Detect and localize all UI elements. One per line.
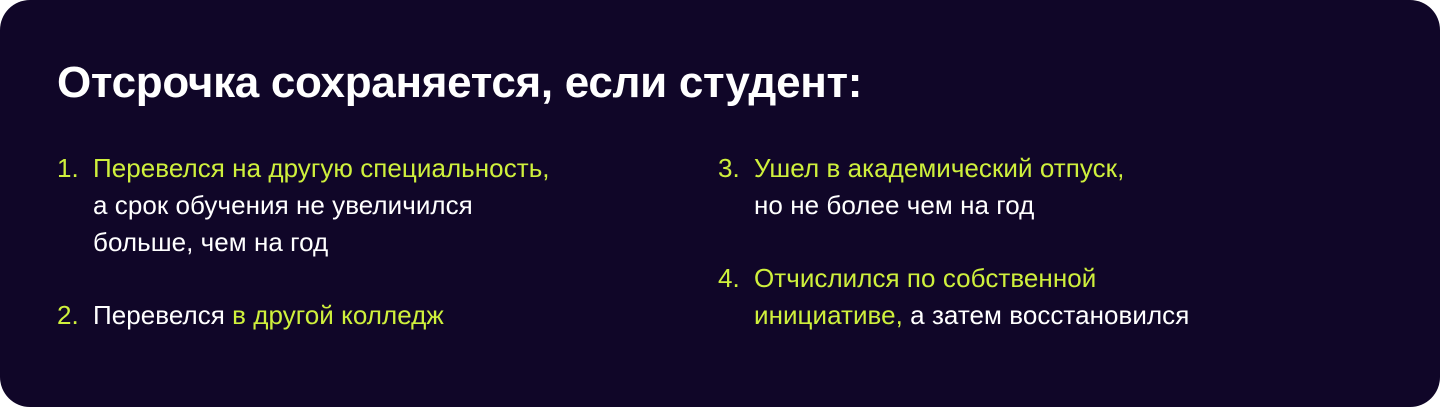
list-item-number: 2. xyxy=(57,297,93,334)
info-card: Отсрочка сохраняется, если студент: 1.Пе… xyxy=(0,0,1440,407)
plain-text: а срок обучения не увеличился xyxy=(93,190,473,220)
list-item: 2.Перевелся в другой колледж xyxy=(57,297,710,334)
list-item-text: Перевелся на другую специальность,а срок… xyxy=(93,150,710,261)
list-item-line: Ушел в академический отпуск, xyxy=(754,150,1440,187)
list-item-text: Ушел в академический отпуск,но не более … xyxy=(754,150,1440,224)
list-item-line: но не более чем на год xyxy=(754,187,1440,224)
list-columns: 1.Перевелся на другую специальность,а ср… xyxy=(0,150,1440,334)
list-item: 1.Перевелся на другую специальность,а ср… xyxy=(57,150,710,261)
highlighted-text: в другой колледж xyxy=(232,300,444,330)
list-item-text: Перевелся в другой колледж xyxy=(93,297,710,334)
plain-text: больше, чем на год xyxy=(93,227,328,257)
list-item-line: больше, чем на год xyxy=(93,224,710,261)
list-item: 3.Ушел в академический отпуск,но не боле… xyxy=(718,150,1440,224)
highlighted-text: Ушел в академический отпуск, xyxy=(754,153,1124,183)
list-item-number: 1. xyxy=(57,150,93,187)
highlighted-text: инициативе, xyxy=(754,300,903,330)
list-item-line: инициативе, а затем восстановился xyxy=(754,297,1440,334)
left-column: 1.Перевелся на другую специальность,а ср… xyxy=(0,150,710,334)
highlighted-text: Отчислился по собственной xyxy=(754,263,1096,293)
list-item: 4.Отчислился по собственнойинициативе, а… xyxy=(718,260,1440,334)
highlighted-text: Перевелся на другую специальность, xyxy=(93,153,550,183)
list-item-number: 4. xyxy=(718,260,754,297)
list-item-line: а срок обучения не увеличился xyxy=(93,187,710,224)
right-column: 3.Ушел в академический отпуск,но не боле… xyxy=(710,150,1440,334)
list-item-line: Отчислился по собственной xyxy=(754,260,1440,297)
list-item-text: Отчислился по собственнойинициативе, а з… xyxy=(754,260,1440,334)
plain-text: но не более чем на год xyxy=(754,190,1034,220)
page-title: Отсрочка сохраняется, если студент: xyxy=(57,57,862,109)
plain-text: Перевелся xyxy=(93,300,232,330)
list-item-number: 3. xyxy=(718,150,754,187)
list-item-line: Перевелся на другую специальность, xyxy=(93,150,710,187)
plain-text: а затем восстановился xyxy=(903,300,1189,330)
list-item-line: Перевелся в другой колледж xyxy=(93,297,710,334)
